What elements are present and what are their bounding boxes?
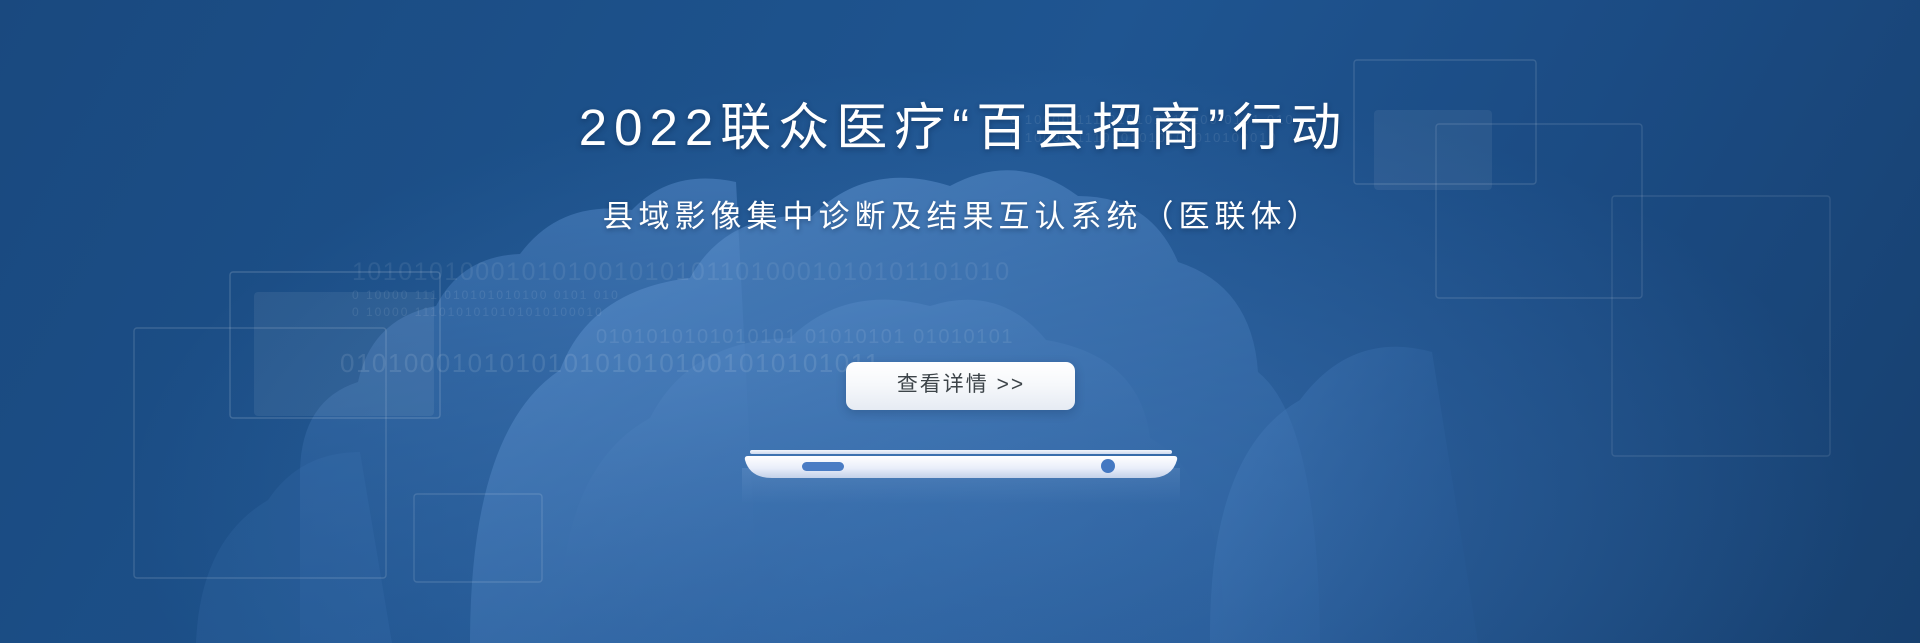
- binary-decor-line-3: 0 10000 1110101010101010100010: [352, 305, 604, 319]
- binary-decor-line-1: 1010101000101010010101011010001010101101…: [352, 258, 1011, 287]
- page-title: 2022联众医疗“百县招商”行动: [0, 97, 1920, 159]
- device-speaker-icon: [802, 462, 844, 471]
- tablet-device: [742, 450, 1180, 504]
- device-camera-icon: [1101, 459, 1115, 473]
- page-subtitle: 县域影像集中诊断及结果互认系统（医联体）: [0, 196, 1920, 238]
- cta-row: 查看详情 >>: [0, 362, 1920, 410]
- binary-decor-line-4: 0101010101010101 01010101 01010101: [596, 326, 1014, 349]
- view-details-button[interactable]: 查看详情 >>: [846, 362, 1075, 410]
- cloud-shape-left: [300, 179, 760, 643]
- cloud-shape-far-left: [196, 452, 392, 643]
- frame-rect-left-bottom: [414, 494, 542, 582]
- promo-banner: 1010101000101010010101011010001010101101…: [0, 0, 1920, 643]
- binary-decor-line-2: 0 10000 111 010101010100 0101 010: [352, 288, 620, 302]
- cloud-shape-front: [560, 300, 1224, 643]
